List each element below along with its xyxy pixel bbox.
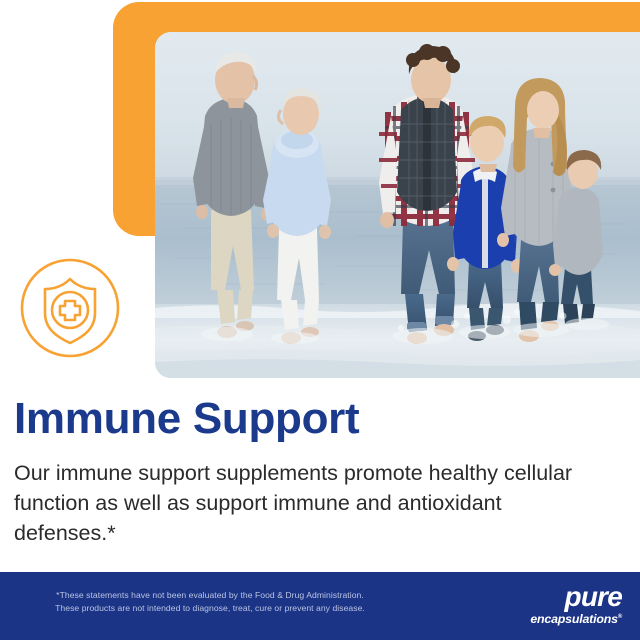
pure-encapsulations-logo[interactable]: pure encapsulations® — [506, 582, 622, 630]
immune-support-promo-card: Immune Support Our immune support supple… — [0, 0, 640, 640]
disclaimer-line-1: *These statements have not been evaluate… — [0, 589, 420, 602]
shield-icon-graphic — [19, 257, 121, 359]
hero-photo — [155, 32, 640, 378]
logo-wordmark: pure — [506, 582, 622, 611]
logo-subtext-label: encapsulations — [530, 612, 617, 626]
body-description: Our immune support supplements promote h… — [14, 458, 594, 548]
page-title: Immune Support — [14, 396, 359, 442]
registered-trademark-icon: ® — [618, 614, 622, 620]
fda-disclaimer: *These statements have not been evaluate… — [0, 589, 420, 614]
shield-medical-cross-icon — [19, 257, 121, 359]
hero-photo-illustration — [155, 32, 640, 378]
disclaimer-line-2: These products are not intended to diagn… — [0, 602, 420, 615]
logo-subtext: encapsulations® — [506, 610, 622, 626]
